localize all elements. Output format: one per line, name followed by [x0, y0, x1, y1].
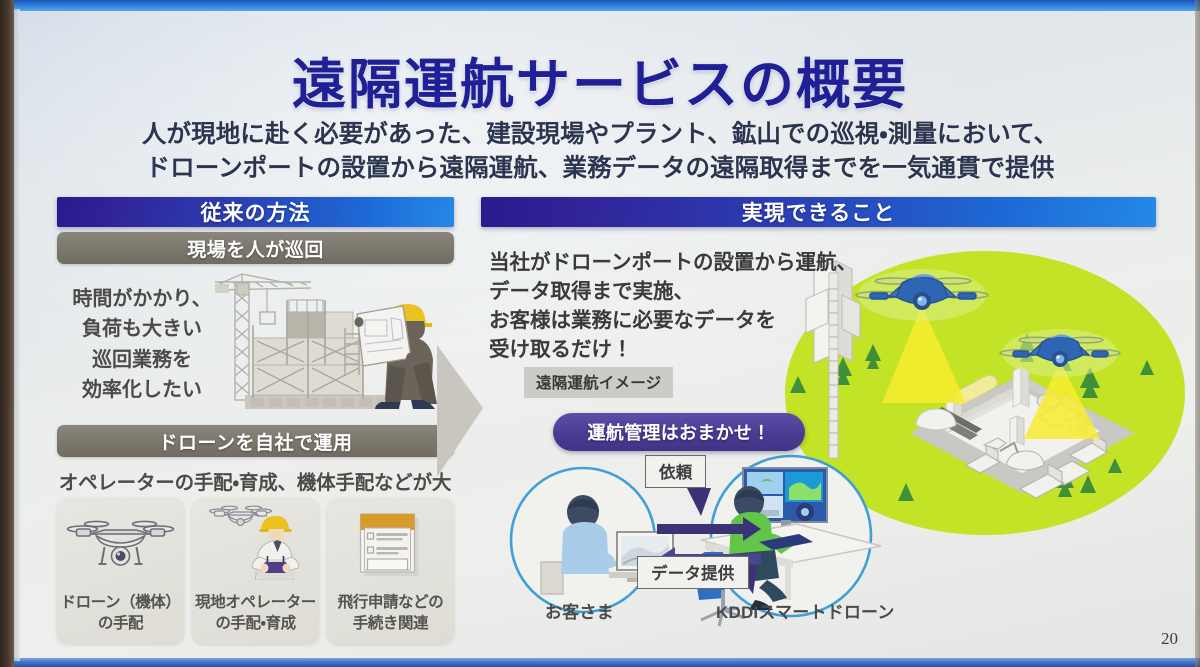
worker-figure: [355, 304, 438, 409]
card-drone[interactable]: ドローン（機体） の手配: [57, 498, 184, 644]
construction-site-illustration: [207, 270, 457, 420]
slide-title: 遠隔運航サービスの概要: [0, 40, 1200, 119]
left-panel-header: 従来の方法: [57, 197, 454, 227]
left-section1-bar: 現場を人が巡回: [57, 232, 454, 264]
right-body-line-3: お客様は業務に必要なデータを: [489, 306, 889, 335]
right-panel-body: 当社がドローンポートの設置から運航、 データ取得まで実施、 お客様は業務に必要な…: [489, 248, 889, 364]
right-body-line-2: データ取得まで実施、: [489, 277, 889, 306]
card-operator[interactable]: 現地オペレーター の手配・育成: [192, 498, 319, 644]
card-document-label: 飛行申請などの 手続き関連: [327, 593, 454, 634]
card-document[interactable]: 飛行申請などの 手続き関連: [327, 498, 454, 644]
right-body-line-1: 当社がドローンポートの設置から運航、: [489, 248, 889, 277]
entity-label-customer: お客さま: [545, 598, 614, 623]
operator-icon: [192, 502, 319, 580]
operation-management-pill: 運航管理はおまかせ！: [553, 413, 805, 451]
page-number: 20: [1161, 629, 1178, 649]
subtitle-line-1: 人が現地に赴く必要があった、建設現場やプラント、鉱山での巡視・測量において、: [0, 118, 1200, 152]
slide-subtitle: 人が現地に赴く必要があった、建設現場やプラント、鉱山での巡視・測量において、 ド…: [0, 118, 1200, 185]
entity-label-kddi: KDDIスマートドローン: [716, 598, 895, 623]
projector-edge-top: [0, 0, 1200, 11]
slide-canvas: 遠隔運航サービスの概要 人が現地に赴く必要があった、建設現場やプラント、鉱山での…: [0, 0, 1200, 667]
card-drone-label: ドローン（機体） の手配: [57, 593, 184, 634]
flow-label-data: データ提供: [637, 556, 749, 589]
left-panel: 現場を人が巡回 時間がかかり、負荷も大きい巡回業務を効率化したい: [57, 232, 454, 644]
left-section1-note: 時間がかかり、負荷も大きい巡回業務を効率化したい: [67, 284, 217, 406]
remote-operation-image-tag: 遠隔運航イメージ: [524, 367, 673, 398]
document-icon: [327, 502, 454, 580]
card-operator-label: 現地オペレーター の手配・育成: [192, 593, 319, 634]
operator-figure: [252, 516, 298, 580]
projector-edge-bottom: [0, 658, 1200, 667]
left-section2-bar: ドローンを自社で運用: [57, 425, 454, 457]
subtitle-line-2: ドローンポートの設置から遠隔運航、業務データの遠隔取得までを一気通貫で提供: [0, 152, 1200, 186]
left-cards-row: ドローン（機体） の手配: [57, 498, 454, 644]
flow-label-request: 依頼: [645, 455, 706, 488]
transition-arrow-icon: [437, 345, 489, 477]
drone-icon: [57, 502, 184, 580]
right-panel-header: 実現できること: [481, 197, 1156, 227]
right-body-line-4: 受け取るだけ！: [489, 335, 889, 364]
